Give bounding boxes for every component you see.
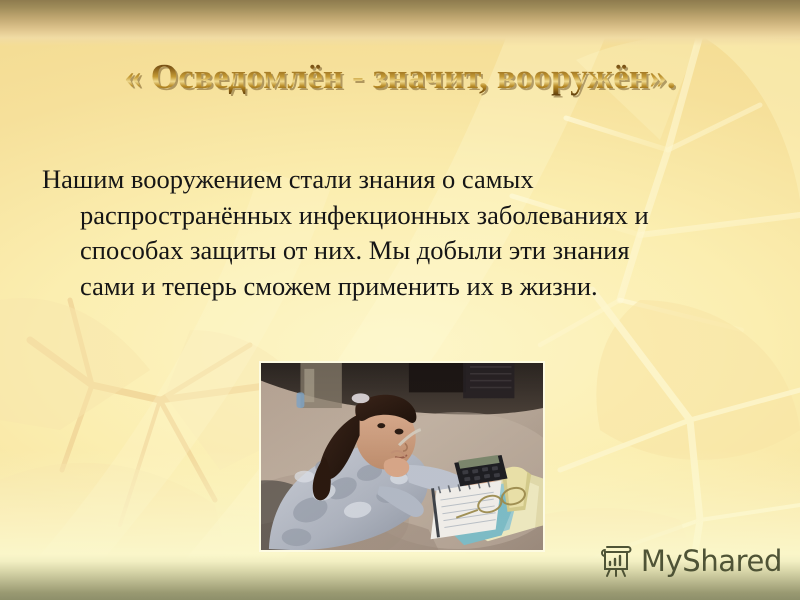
myshared-label: MyShared: [641, 547, 782, 576]
myshared-watermark: MyShared: [598, 544, 782, 578]
body-line-1: Нашим вооружением стали знания о самых: [42, 162, 714, 198]
body-line-4: сами и теперь сможем применить их в жизн…: [42, 269, 714, 305]
slide-canvas: « Осведомлён - значит, вооружён». Нашим …: [0, 0, 800, 600]
body-line-3: способах защиты от них. Мы добыли эти зн…: [42, 233, 714, 269]
top-gradient-band: [0, 0, 800, 46]
slide-photo: [259, 361, 545, 552]
slide-title: « Осведомлён - значит, вооружён».: [0, 58, 800, 97]
presentation-chart-icon: [598, 544, 634, 578]
slide-body-text: Нашим вооружением стали знания о самых р…: [42, 162, 714, 304]
body-line-2: распространённых инфекционных заболевани…: [42, 198, 714, 234]
